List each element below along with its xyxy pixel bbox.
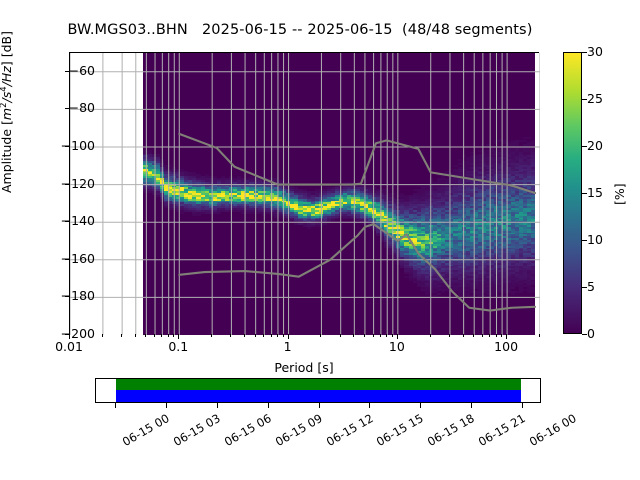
x-tick-mark: [473, 334, 474, 337]
x-tick-label: 0.1: [168, 339, 188, 354]
ppsd-plot-area: [69, 52, 539, 334]
x-tick-mark: [154, 334, 155, 337]
x-tick-mark: [496, 334, 497, 337]
colorbar-tick-label: 5: [587, 279, 595, 294]
x-tick-mark: [173, 334, 174, 337]
x-tick-mark: [135, 334, 136, 337]
timeline-date-label: 06-15 09: [273, 411, 325, 449]
x-tick-mark: [506, 334, 507, 339]
data-coverage-green: [116, 379, 521, 390]
y-tick-label: −180: [35, 288, 95, 303]
x-tick-mark: [244, 334, 245, 337]
colorbar-tick-label: 20: [587, 138, 603, 153]
colorbar-tick-label: 0: [587, 326, 595, 341]
data-coverage-blue: [116, 390, 521, 402]
x-tick-mark: [539, 334, 540, 337]
y-tick-label: −60: [35, 63, 95, 78]
colorbar-tick-mark: [582, 99, 587, 100]
timeline-tick-mark: [420, 403, 421, 408]
y-tick-label: −140: [35, 213, 95, 228]
x-tick-label: 100: [494, 339, 518, 354]
x-tick-mark: [373, 334, 374, 337]
timeline-date-label: 06-15 00: [120, 411, 172, 449]
timeline-date-label: 06-15 21: [476, 411, 528, 449]
colorbar-tick-mark: [582, 240, 587, 241]
x-tick-label: 1: [284, 339, 292, 354]
y-axis-label: Amplitude [m2/s4/Hz] [dB]: [0, 31, 14, 193]
y-tick-label: −120: [35, 176, 95, 191]
colorbar-tick-label: 30: [587, 44, 603, 59]
x-tick-mark: [168, 334, 169, 337]
colorbar-tick-mark: [582, 287, 587, 288]
x-tick-mark: [255, 334, 256, 337]
x-tick-mark: [463, 334, 464, 337]
x-tick-mark: [288, 334, 289, 339]
timeline-tick-mark: [166, 403, 167, 408]
timeline-date-label: 06-15 06: [222, 411, 274, 449]
page-title: BW.MGS03..BHN 2025-06-15 -- 2025-06-15 (…: [0, 22, 600, 38]
y-tick-label: −80: [35, 100, 95, 115]
timeline-date-label: 06-15 03: [171, 411, 223, 449]
x-tick-mark: [489, 334, 490, 337]
timeline-date-label: 06-15 12: [323, 411, 375, 449]
x-tick-mark: [320, 334, 321, 337]
x-tick-mark: [430, 334, 431, 337]
timeline-tick-mark: [522, 403, 523, 408]
y-tick-label: −100: [35, 138, 95, 153]
timeline-date-label: 06-15 18: [425, 411, 477, 449]
x-tick-mark: [353, 334, 354, 337]
timeline-tick-mark: [369, 403, 370, 408]
x-tick-mark: [380, 334, 381, 337]
noise-model-curves: [70, 53, 540, 335]
x-tick-mark: [211, 334, 212, 337]
colorbar-tick-label: 25: [587, 91, 603, 106]
colorbar-tick-label: 10: [587, 232, 603, 247]
timeline-tick-mark: [319, 403, 320, 408]
colorbar-tick-mark: [582, 334, 587, 335]
colorbar-tick-mark: [582, 52, 587, 53]
x-tick-mark: [263, 334, 264, 337]
colorbar-tick-mark: [582, 146, 587, 147]
timeline-tick-mark: [268, 403, 269, 408]
x-tick-mark: [449, 334, 450, 337]
x-tick-mark: [69, 334, 70, 339]
y-tick-label: −160: [35, 251, 95, 266]
colorbar-tick-mark: [582, 193, 587, 194]
colorbar-tick-label: 15: [587, 185, 603, 200]
x-tick-mark: [392, 334, 393, 337]
timeline-tick-mark: [115, 403, 116, 408]
x-tick-mark: [482, 334, 483, 337]
x-tick-mark: [145, 334, 146, 337]
x-tick-mark: [102, 334, 103, 337]
timeline-coverage-bar[interactable]: [95, 378, 541, 403]
x-tick-mark: [364, 334, 365, 337]
colorbar-label: [%]: [612, 183, 627, 205]
x-tick-mark: [386, 334, 387, 337]
timeline-tick-mark: [217, 403, 218, 408]
timeline-date-label: 06-16 00: [527, 411, 579, 449]
x-tick-mark: [283, 334, 284, 337]
x-tick-label: 10: [389, 339, 405, 354]
x-tick-label: 0.01: [55, 339, 83, 354]
x-axis-label: Period [s]: [69, 360, 539, 375]
colorbar: [563, 52, 582, 334]
x-tick-mark: [178, 334, 179, 339]
x-tick-mark: [230, 334, 231, 337]
x-tick-mark: [340, 334, 341, 337]
x-tick-mark: [277, 334, 278, 337]
x-tick-mark: [397, 334, 398, 339]
timeline-date-label: 06-15 15: [374, 411, 426, 449]
x-tick-mark: [501, 334, 502, 337]
x-tick-mark: [161, 334, 162, 337]
x-tick-mark: [271, 334, 272, 337]
x-tick-mark: [121, 334, 122, 337]
timeline-tick-mark: [471, 403, 472, 408]
